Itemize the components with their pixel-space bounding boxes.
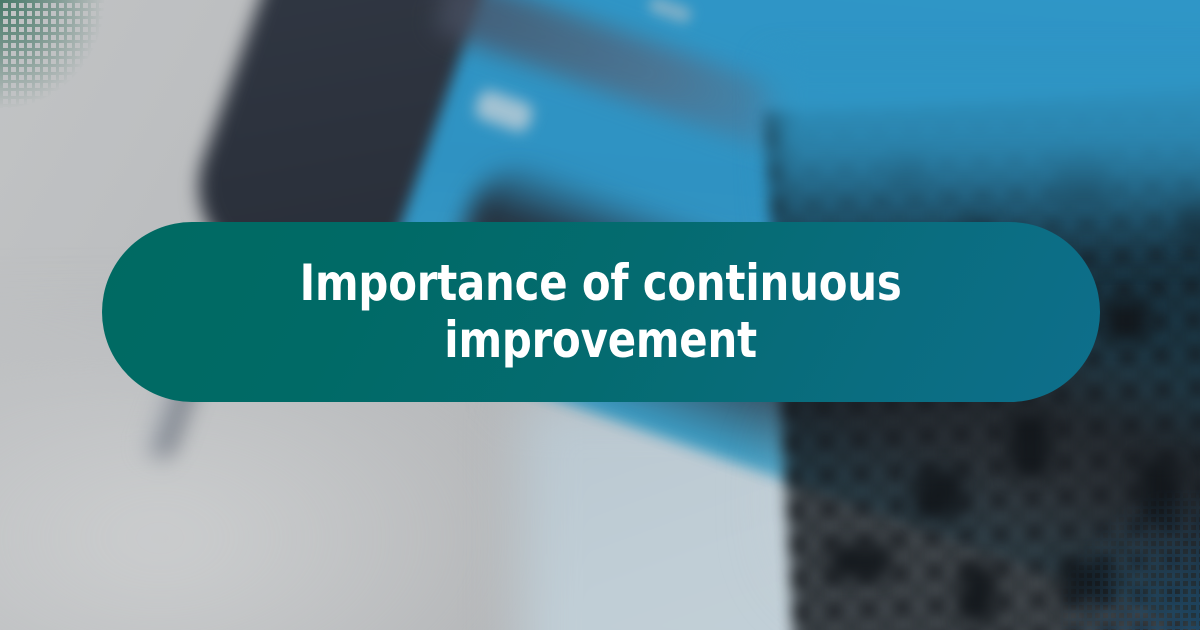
title-pill: Importance of continuous improvement (102, 222, 1100, 402)
qr-module-cluster (1105, 300, 1149, 340)
qr-module-cluster (915, 470, 963, 518)
qr-module-cluster (1010, 415, 1050, 475)
qr-module-cluster (960, 565, 996, 621)
qr-module-cluster (1055, 150, 1107, 202)
dot-grid-bottom-right-icon (1060, 490, 1200, 630)
banner-canvas: Importance of continuous improvement (0, 0, 1200, 630)
dot-grid-top-left-icon (0, 0, 104, 108)
qr-module-cluster (830, 545, 890, 579)
qr-module-cluster (888, 150, 924, 186)
page-title: Importance of continuous improvement (300, 255, 902, 369)
qr-module-cluster (1180, 200, 1200, 240)
